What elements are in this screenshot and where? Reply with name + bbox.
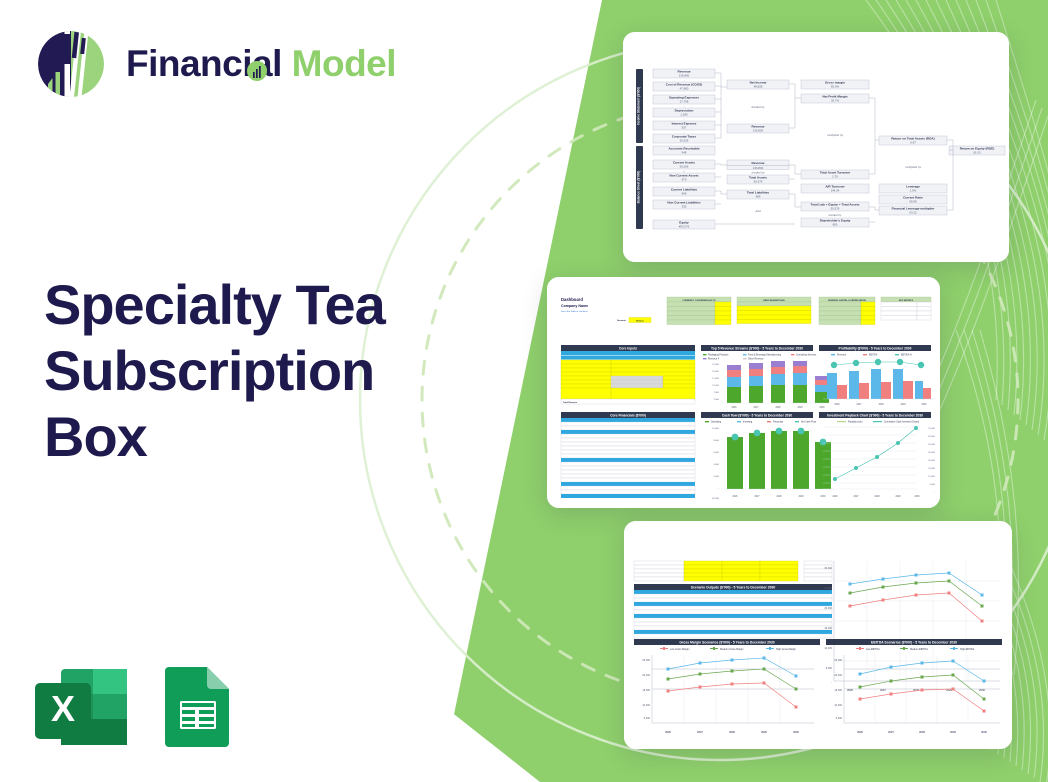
title-line-3: Box [44,405,147,468]
scenario-content: .st { font-family:"Liberation Sans",sans… [624,521,1012,749]
svg-text:948: 948 [682,150,687,154]
svg-text:7,000: 7,000 [714,392,720,394]
svg-text:2028: 2028 [919,730,925,734]
svg-text:Food & Beverage Manufacturing: Food & Beverage Manufacturing [748,354,782,357]
svg-text:2030: 2030 [979,688,985,692]
svg-text:65.0%: 65.0% [831,84,840,88]
title-line-1: Specialty Tea [44,273,385,336]
svg-text:5,000: 5,000 [826,667,833,670]
svg-text:22,000: 22,000 [712,371,719,373]
svg-text:-: - [684,104,685,108]
svg-text:22,000: 22,000 [928,468,935,470]
svg-text:6,000: 6,000 [714,452,720,454]
svg-text:-: - [684,91,685,95]
svg-text:2028: 2028 [776,496,782,498]
svg-text:10,000: 10,000 [712,428,719,430]
dashboard-content: .dt { font-family:"Liberation Sans",sans… [547,277,940,508]
svg-text:2027: 2027 [697,730,703,734]
svg-text:2030: 2030 [793,730,799,734]
svg-text:15,000: 15,000 [834,689,842,692]
svg-text:-: - [718,488,719,490]
svg-text:Packaging Products: Packaging Products [708,354,729,357]
svg-text:989: 989 [756,194,761,198]
svg-text:Investing: Investing [743,421,753,424]
poster-canvas: Financial Model Specialty Tea Subscripti… [0,0,1048,782]
svg-text:-: - [684,117,685,121]
svg-text:High EBITDA: High EBITDA [960,648,975,651]
excel-icon[interactable]: X [33,665,133,749]
svg-text:50,006: 50,006 [680,164,689,168]
svg-text:Scenario: Scenario [617,319,627,322]
svg-text:144.24: 144.24 [831,188,840,192]
svg-text:2028: 2028 [729,730,735,734]
svg-text:2030: 2030 [921,404,927,406]
svg-text:2029: 2029 [946,688,952,692]
svg-text:5,000: 5,000 [644,717,651,720]
svg-text:15,000: 15,000 [824,627,832,630]
svg-text:2,000: 2,000 [714,399,720,401]
svg-text:20,526: 20,526 [680,138,689,142]
svg-text:2030: 2030 [981,730,987,734]
svg-text:Medium Gross Margin: Medium Gross Margin [720,648,744,651]
svg-text:2026: 2026 [832,496,838,498]
svg-text:61.03: 61.03 [973,150,981,154]
svg-text:2,000: 2,000 [714,476,720,478]
svg-text:2030: 2030 [819,407,825,409]
svg-text:32,000: 32,000 [928,460,935,462]
svg-text:42,000: 42,000 [928,452,935,454]
svg-text:High Gross Margin: High Gross Margin [776,648,797,651]
svg-text:Gross Margin Scenarios ($'000): Gross Margin Scenarios ($'000) - 5 Years… [679,640,774,644]
svg-text:Profitability ($'000) - 5 Year: Profitability ($'000) - 5 Years to Decem… [839,346,912,350]
svg-text:Scenario Outputs ($'000) - 5 Y: Scenario Outputs ($'000) - 5 Years to De… [691,585,776,589]
svg-text:25,000: 25,000 [824,587,832,590]
svg-text:2026: 2026 [847,688,853,692]
svg-text:2.70: 2.70 [832,174,838,178]
svg-text:72,000: 72,000 [928,428,935,430]
svg-text:27,000: 27,000 [712,364,719,366]
svg-text:-: - [841,723,842,726]
svg-text:Investment Payback Chart ($'00: Investment Payback Chart ($'000) - 5 Yea… [827,413,923,417]
svg-text:WORKING CAPITAL & DEPRECIATION: WORKING CAPITAL & DEPRECIATION [828,299,866,302]
svg-text:2027: 2027 [880,688,886,692]
svg-text:Core Inputs: Core Inputs [619,346,637,350]
svg-text:Payback point: Payback point [848,421,863,424]
financial-model-pie-logo-icon [34,28,108,100]
svg-text:335: 335 [682,204,687,208]
title-line-2: Subscription [44,339,374,402]
svg-text:0.97: 0.97 [910,140,916,144]
svg-text:136,800: 136,800 [753,166,764,170]
svg-text:12,000: 12,000 [712,385,719,387]
page-title: Specialty Tea Subscription Box [44,272,474,470]
svg-text:2030: 2030 [914,496,920,498]
svg-text:2026: 2026 [731,407,737,409]
svg-text:537: 537 [682,125,687,129]
svg-text:12,000: 12,000 [928,476,935,478]
svg-text:4,000: 4,000 [714,464,720,466]
svg-text:2029: 2029 [895,496,901,498]
svg-text:136,800: 136,800 [753,128,764,132]
svg-text:30,000: 30,000 [824,567,832,570]
svg-text:2028: 2028 [878,404,884,406]
svg-text:Total Revenue: Total Revenue [563,401,578,404]
svg-text:10,000: 10,000 [642,704,650,707]
svg-text:-: - [684,130,685,134]
svg-text:Cash flow ($'000) - 5 Years to: Cash flow ($'000) - 5 Years to December … [722,413,793,417]
svg-text:10,000: 10,000 [824,647,832,650]
svg-text:Dashboard: Dashboard [561,297,583,302]
svg-text:63.22: 63.22 [909,210,917,214]
svg-text:Income Statement ($'000): Income Statement ($'000) [637,87,641,125]
svg-text:Revenue: Revenue [752,161,765,165]
svg-text:Consulting Services: Consulting Services [796,354,817,357]
svg-text:47,880: 47,880 [680,86,689,90]
svg-text:2028: 2028 [775,407,781,409]
file-format-icons: X [33,665,237,749]
svg-text:2029: 2029 [761,730,767,734]
svg-text:48,828: 48,828 [754,84,763,88]
svg-text:848: 848 [682,191,687,195]
svg-text:Core Financials ($'000): Core Financials ($'000) [610,413,646,417]
svg-text:2026: 2026 [857,730,863,734]
svg-text:2029: 2029 [950,730,956,734]
svg-text:17,758: 17,758 [680,99,689,103]
svg-text:58.98: 58.98 [909,199,917,203]
svg-text:2029: 2029 [900,404,906,406]
svg-text:62,000: 62,000 [928,436,935,438]
svg-text:50,576: 50,576 [754,179,763,183]
svg-text:Balance Sheet ($'000): Balance Sheet ($'000) [637,171,641,204]
svg-text:20,000: 20,000 [834,674,842,677]
svg-text:#53,276: #53,276 [679,224,690,228]
svg-text:EBITDA %: EBITDA % [901,354,912,357]
svg-text:Net Cash Flow: Net Cash Flow [801,421,816,424]
svg-text:-: - [684,78,685,82]
svg-text:Add: Add [754,209,761,213]
financial-driver-tree-screenshot[interactable]: .nbx { fill:#F1F2F6; stroke:#AEB5C6; str… [623,32,1009,262]
svg-text:1.9%: 1.9% [910,188,917,192]
svg-text:Revenue: Revenue [837,355,847,357]
svg-text:Go to the Table of Contents: Go to the Table of Contents [561,310,588,313]
svg-text:X: X [51,688,75,729]
svg-text:divided by: divided by [751,105,765,109]
svg-text:800: 800 [833,222,838,226]
svg-text:5,000: 5,000 [836,717,843,720]
svg-text:Top 5 Revenue Streams ($'000): Top 5 Revenue Streams ($'000) - 5 Years … [711,346,803,350]
svg-text:multiplied by: multiplied by [827,133,844,137]
svg-text:(2,000): (2,000) [712,498,719,500]
svg-text:Low Gross Margin: Low Gross Margin [670,648,690,651]
svg-text:2026: 2026 [732,496,738,498]
svg-text:2030: 2030 [820,496,826,498]
svg-text:Medium: Medium [636,320,644,322]
svg-text:Other Revenue: Other Revenue [748,358,764,361]
svg-text:-: - [934,492,935,494]
svg-text:Revenue 4: Revenue 4 [708,359,720,361]
svg-text:2029: 2029 [798,496,804,498]
svg-text:15,000: 15,000 [642,689,650,692]
svg-text:divided by: divided by [828,213,842,217]
svg-text:divided by: divided by [751,171,765,175]
svg-text:-: - [831,681,832,684]
svg-text:Company Name: Company Name [561,304,588,308]
svg-text:-: - [649,723,650,726]
svg-text:DEBT ASSUMPTIONS: DEBT ASSUMPTIONS [763,299,785,302]
svg-text:25,000: 25,000 [834,659,842,662]
svg-text:2029: 2029 [797,407,803,409]
svg-text:570: 570 [682,177,687,181]
svg-text:Operating: Operating [711,421,722,424]
svg-text:2027: 2027 [753,407,759,409]
svg-text:CURRENCY CONVERSION BY FX: CURRENCY CONVERSION BY FX [683,300,717,302]
driver-tree-diagram: .nbx { fill:#F1F2F6; stroke:#AEB5C6; str… [623,32,1009,262]
svg-text:25,000: 25,000 [642,659,650,662]
svg-text:2027: 2027 [856,404,862,406]
svg-text:20,000: 20,000 [642,674,650,677]
financial-dashboard-screenshot[interactable]: .dt { font-family:"Liberation Sans",sans… [547,277,940,508]
svg-text:52,000: 52,000 [928,444,935,446]
svg-text:8,000: 8,000 [714,440,720,442]
svg-text:10,000: 10,000 [834,704,842,707]
svg-text:Medium EBITDA: Medium EBITDA [910,648,928,651]
svg-text:1,285: 1,285 [680,112,688,116]
logo-o-bars-icon [246,56,268,82]
svg-text:2026: 2026 [834,404,840,406]
svg-text:35.7%: 35.7% [831,98,840,102]
svg-text:20,000: 20,000 [824,607,832,610]
svg-text:2027: 2027 [853,496,859,498]
svg-text:KEY METRICS: KEY METRICS [899,300,914,302]
svg-text:+: + [683,169,685,173]
google-sheets-icon[interactable] [159,665,237,749]
svg-text:Low EBITDA: Low EBITDA [866,648,880,651]
brand-logo[interactable]: Financial Model [34,28,396,100]
svg-text:multiplied by: multiplied by [905,165,922,169]
svg-text:2027: 2027 [888,730,894,734]
brand-name-part2: Model [292,43,396,84]
svg-text:136,800: 136,800 [679,73,690,77]
svg-text:17,000: 17,000 [712,378,719,380]
svg-text:Financing: Financing [773,422,784,424]
svg-text:2028: 2028 [874,496,880,498]
scenario-analysis-screenshot[interactable]: .st { font-family:"Liberation Sans",sans… [624,521,1012,749]
svg-text:Cumulative Cash Invested (Gros: Cumulative Cash Invested (Gross) [884,421,919,424]
svg-text:2027: 2027 [754,496,760,498]
svg-text:EBITDA Scenarios ($'000) - 5 Y: EBITDA Scenarios ($'000) - 5 Years to De… [871,640,957,644]
svg-text:50,576: 50,576 [831,206,840,210]
svg-text:2,000: 2,000 [930,484,936,486]
svg-text:EBITDA: EBITDA [869,354,878,357]
svg-text:2028: 2028 [913,688,919,692]
svg-text:2026: 2026 [665,730,671,734]
